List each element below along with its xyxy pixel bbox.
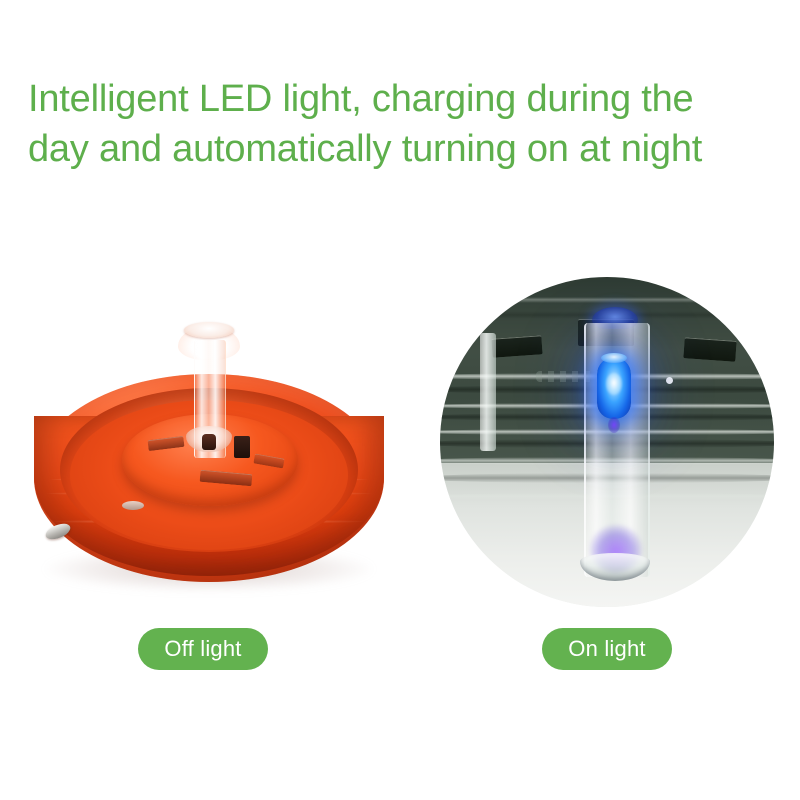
caption-on-light: On light <box>542 628 672 670</box>
component-solar-strip <box>253 453 284 468</box>
page-title: Intelligent LED light, charging during t… <box>28 74 780 174</box>
led-bulb-cap <box>601 353 627 363</box>
vent-slot <box>491 335 542 357</box>
component-solar-strip <box>200 470 253 486</box>
metal-eyelet-icon <box>122 501 144 510</box>
caption-off-light: Off light <box>138 628 268 670</box>
on-light-photo <box>440 277 774 607</box>
led-unlit <box>202 434 216 450</box>
product-banner: Intelligent LED light, charging during t… <box>0 0 800 800</box>
led-glow <box>608 417 620 433</box>
tube-cap <box>184 322 234 338</box>
component-capacitor <box>234 436 250 458</box>
off-light-photo <box>18 296 404 622</box>
vent-slot <box>683 337 736 362</box>
specular-highlight <box>666 377 673 384</box>
led-hotspot <box>606 373 622 395</box>
component-solar-strip <box>147 436 184 451</box>
clear-post <box>480 333 496 451</box>
